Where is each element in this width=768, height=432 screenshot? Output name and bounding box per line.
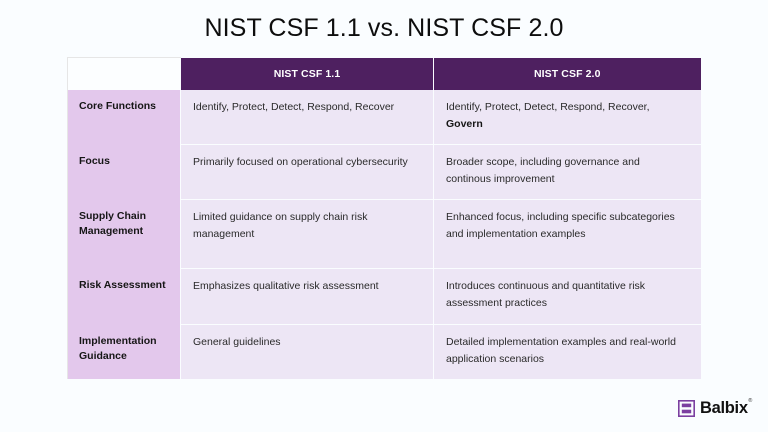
row-label-supply-chain-management: Supply Chain Management (68, 200, 181, 269)
cell-core-functions-csf20: Identify, Protect, Detect, Respond, Reco… (434, 90, 701, 145)
page-title: NIST CSF 1.1 vs. NIST CSF 2.0 (0, 14, 768, 43)
row-label-implementation-guidance: Implementation Guidance (68, 325, 181, 379)
table-row: Focus Primarily focused on operational c… (68, 145, 701, 200)
cell-risk-assessment-csf20: Introduces continuous and quantitative r… (434, 269, 701, 325)
column-header-csf11: NIST CSF 1.1 (181, 58, 434, 90)
table-row: Supply Chain Management Limited guidance… (68, 200, 701, 269)
balbix-logo-icon (678, 400, 695, 417)
table-row: Core Functions Identify, Protect, Detect… (68, 90, 701, 145)
cell-supply-chain-csf11: Limited guidance on supply chain risk ma… (181, 200, 434, 269)
cell-focus-csf11: Primarily focused on operational cyberse… (181, 145, 434, 200)
cell-emphasis: Govern (446, 118, 483, 130)
column-header-csf20: NIST CSF 2.0 (434, 58, 701, 90)
cell-focus-csf20: Broader scope, including governance and … (434, 145, 701, 200)
table-row: Risk Assessment Emphasizes qualitative r… (68, 269, 701, 325)
table-header-row: NIST CSF 1.1 NIST CSF 2.0 (68, 58, 701, 90)
cell-risk-assessment-csf11: Emphasizes qualitative risk assessment (181, 269, 434, 325)
table-row: Implementation Guidance General guidelin… (68, 325, 701, 379)
registered-trademark-icon: ® (748, 398, 752, 404)
row-label-focus: Focus (68, 145, 181, 200)
cell-implementation-guidance-csf20: Detailed implementation examples and rea… (434, 325, 701, 379)
balbix-logo-text: Balbix® (700, 400, 751, 417)
cell-implementation-guidance-csf11: General guidelines (181, 325, 434, 379)
cell-text: Identify, Protect, Detect, Respond, Reco… (446, 101, 650, 113)
cell-core-functions-csf11: Identify, Protect, Detect, Respond, Reco… (181, 90, 434, 145)
row-label-core-functions: Core Functions (68, 90, 181, 145)
logo-wordmark: Balbix (700, 399, 748, 417)
cell-supply-chain-csf20: Enhanced focus, including specific subca… (434, 200, 701, 269)
row-label-risk-assessment: Risk Assessment (68, 269, 181, 325)
table-corner-cell (68, 58, 181, 90)
balbix-logo: Balbix® (678, 400, 751, 417)
comparison-table: NIST CSF 1.1 NIST CSF 2.0 Core Functions… (67, 57, 701, 379)
